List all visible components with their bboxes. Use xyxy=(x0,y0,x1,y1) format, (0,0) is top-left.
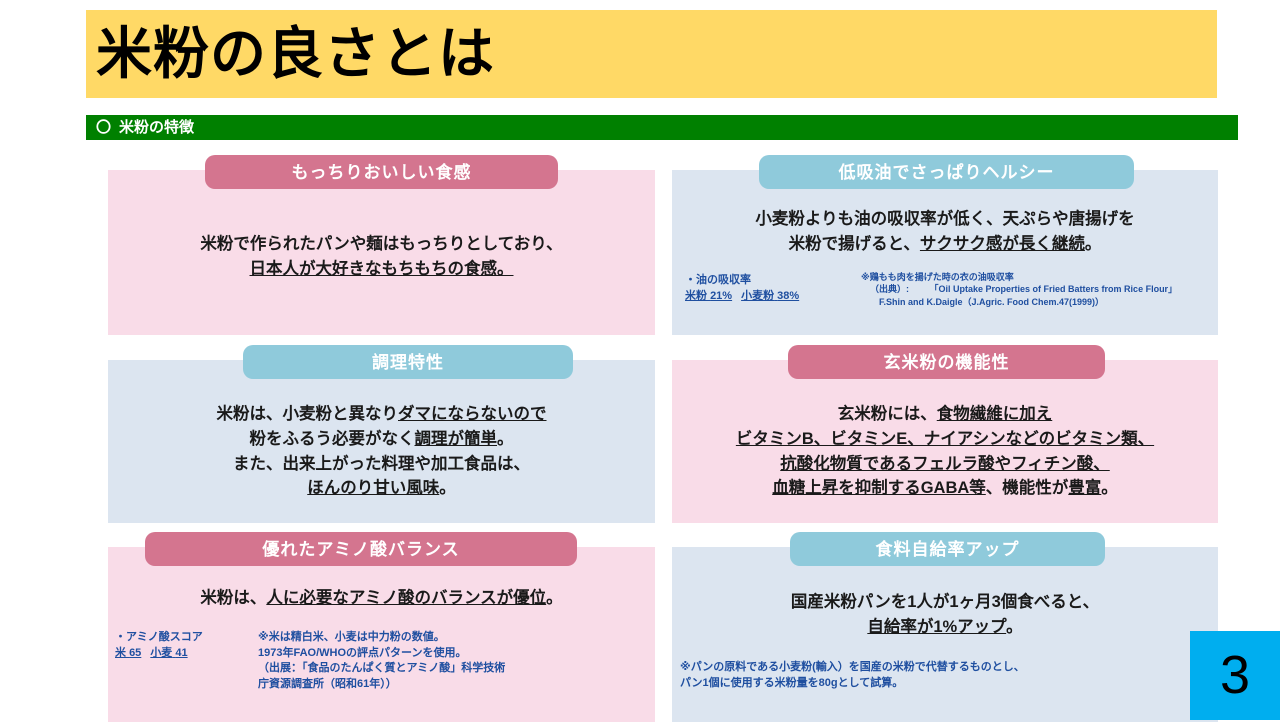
card-genmaiko-kinousei-body-line-1: 玄米粉には、食物繊維に加え xyxy=(672,402,1218,427)
card-mochiri: もっちりおいしい食感 米粉で作られたパンや麺はもっちりとしており、 日本人が大好… xyxy=(108,170,655,335)
card-mochiri-body: 米粉で作られたパンや麺はもっちりとしており、 日本人が大好きなもちもちの食感。 xyxy=(108,232,655,282)
section-header-label: 米粉の特徴 xyxy=(119,120,194,135)
card-tei-kyuyu-note-left: ・油の吸収率 米粉 21%小麦粉 38% xyxy=(685,273,799,304)
card-amino-balance-body-line-1: 米粉は、人に必要なアミノ酸のバランスが優位。 xyxy=(108,586,655,611)
card-genmaiko-kinousei-body-line-4: 血糖上昇を抑制するGABA等、機能性が豊富。 xyxy=(672,476,1218,501)
card-tei-kyuyu-score-1-value: 21% xyxy=(710,290,732,302)
card-amino-balance-source-line-4: 庁資源調査所（昭和61年）） xyxy=(258,677,505,693)
card-tei-kyuyu-body-line-1: 小麦粉よりも油の吸収率が低く、天ぷらや唐揚げを xyxy=(672,207,1218,232)
card-chori-tokusei-body-line-2: 粉をふるう必要がなく調理が簡単。 xyxy=(108,427,655,452)
card-tei-kyuyu-source-line-1: ※鶏もも肉を揚げた時の衣の油吸収率 xyxy=(861,271,1218,283)
card-tei-kyuyu-score-row: 米粉 21%小麦粉 38% xyxy=(685,289,799,305)
card-amino-balance-note-left-title: ・アミノ酸スコア xyxy=(115,630,203,646)
card-amino-balance-heading: 優れたアミノ酸バランス xyxy=(262,541,459,558)
title-band: 米粉の良さとは xyxy=(86,10,1217,98)
card-tei-kyuyu-source-line-4: F.Shin and K.Daigle（J.Agric. Food Chem.4… xyxy=(861,296,1104,308)
card-jikyuritsu-up-note-line-2: パン1個に使用する米粉量を80gとして試算。 xyxy=(680,676,1025,692)
card-genmaiko-kinousei-body-line-2: ビタミンB、ビタミンE、ナイアシンなどのビタミン類、 xyxy=(672,427,1218,452)
card-jikyuritsu-up-body: 国産米粉パンを1人が1ヶ月3個食べると、 自給率が1%アップ。 xyxy=(672,590,1218,640)
card-tei-kyuyu: 低吸油でさっぱりヘルシー 小麦粉よりも油の吸収率が低く、天ぷらや唐揚げを 米粉で… xyxy=(672,170,1218,335)
card-chori-tokusei-heading: 調理特性 xyxy=(372,354,444,371)
card-amino-balance-heading-pill: 優れたアミノ酸バランス xyxy=(145,532,577,566)
card-chori-tokusei: 調理特性 米粉は、小麦粉と異なりダマにならないので 粉をふるう必要がなく調理が簡… xyxy=(108,360,655,523)
card-mochiri-heading: もっちりおいしい食感 xyxy=(292,164,472,181)
card-amino-balance-source-line-3: （出展：「食品のたんぱく質とアミノ酸」科学技術 xyxy=(258,661,505,677)
card-chori-tokusei-body-line-4: ほんのり甘い風味。 xyxy=(108,476,655,501)
card-tei-kyuyu-score-1-label: 米粉 xyxy=(685,290,707,302)
card-amino-balance-score-2-value: 41 xyxy=(175,647,187,659)
card-jikyuritsu-up-note-line-1: ※パンの原料である小麦粉(輸入）を国産の米粉で代替するものとし、 xyxy=(680,660,1025,676)
card-tei-kyuyu-heading: 低吸油でさっぱりヘルシー xyxy=(839,164,1055,181)
card-mochiri-heading-pill: もっちりおいしい食感 xyxy=(205,155,558,189)
card-amino-balance-body: 米粉は、人に必要なアミノ酸のバランスが優位。 xyxy=(108,586,655,611)
card-amino-balance-score-2-label: 小麦 xyxy=(150,647,172,659)
card-jikyuritsu-up: 食料自給率アップ 国産米粉パンを1人が1ヶ月3個食べると、 自給率が1%アップ。… xyxy=(672,547,1218,722)
card-amino-balance-score-1-label: 米 xyxy=(115,647,126,659)
card-amino-balance-note-right: ※米は精白米、小麦は中力粉の数値。 1973年FAO/WHOの評点パターンを使用… xyxy=(258,630,505,692)
card-jikyuritsu-up-body-line-1: 国産米粉パンを1人が1ヶ月3個食べると、 xyxy=(672,590,1218,615)
card-jikyuritsu-up-body-underline: 自給率が1%アップ xyxy=(867,618,1006,636)
card-jikyuritsu-up-heading-pill: 食料自給率アップ xyxy=(790,532,1105,566)
card-chori-tokusei-body: 米粉は、小麦粉と異なりダマにならないので 粉をふるう必要がなく調理が簡単。 また… xyxy=(108,402,655,501)
card-genmaiko-kinousei-body: 玄米粉には、食物繊維に加え ビタミンB、ビタミンE、ナイアシンなどのビタミン類、… xyxy=(672,402,1218,501)
card-genmaiko-kinousei: 玄米粉の機能性 玄米粉には、食物繊維に加え ビタミンB、ビタミンE、ナイアシンな… xyxy=(672,360,1218,523)
circle-outline-icon: 〇 xyxy=(96,120,111,135)
card-chori-tokusei-heading-pill: 調理特性 xyxy=(243,345,573,379)
card-amino-balance-note-left: ・アミノ酸スコア 米 65小麦 41 xyxy=(115,630,203,661)
card-jikyuritsu-up-heading: 食料自給率アップ xyxy=(876,541,1020,558)
card-amino-balance: 優れたアミノ酸バランス 米粉は、人に必要なアミノ酸のバランスが優位。 ・アミノ酸… xyxy=(108,547,655,722)
card-genmaiko-kinousei-heading: 玄米粉の機能性 xyxy=(884,354,1010,371)
card-genmaiko-kinousei-heading-pill: 玄米粉の機能性 xyxy=(788,345,1105,379)
card-chori-tokusei-body-line-1: 米粉は、小麦粉と異なりダマにならないので xyxy=(108,402,655,427)
page-number-badge: 3 xyxy=(1190,631,1280,720)
card-chori-tokusei-body-line-3: また、出来上がった料理や加工食品は、 xyxy=(108,452,655,477)
card-amino-balance-source-line-1: ※米は精白米、小麦は中力粉の数値。 xyxy=(258,630,505,646)
card-tei-kyuyu-note-right: ※鶏もも肉を揚げた時の衣の油吸収率 （出典）: 「Oil Uptake Prop… xyxy=(861,271,1218,308)
card-amino-balance-score-1-value: 65 xyxy=(129,647,141,659)
page-title: 米粉の良さとは xyxy=(96,26,495,82)
card-tei-kyuyu-source-line-3: 「Oil Uptake Properties of Fried Batters … xyxy=(912,283,1178,295)
card-amino-balance-body-underline: 人に必要なアミノ酸のバランスが優位 xyxy=(266,589,546,607)
card-tei-kyuyu-score-2-label: 小麦粉 xyxy=(741,290,774,302)
card-mochiri-body-line-1: 米粉で作られたパンや麺はもっちりとしており、 xyxy=(108,232,655,257)
card-tei-kyuyu-body: 小麦粉よりも油の吸収率が低く、天ぷらや唐揚げを 米粉で揚げると、サクサク感が長く… xyxy=(672,207,1218,257)
card-tei-kyuyu-body-underline: サクサク感が長く継続 xyxy=(920,235,1085,253)
card-jikyuritsu-up-body-line-2: 自給率が1%アップ。 xyxy=(672,615,1218,640)
card-tei-kyuyu-body-line-2: 米粉で揚げると、サクサク感が長く継続。 xyxy=(672,232,1218,257)
card-amino-balance-score-row: 米 65小麦 41 xyxy=(115,646,203,662)
card-tei-kyuyu-score-2-value: 38% xyxy=(777,290,799,302)
card-amino-balance-source-line-2: 1973年FAO/WHOの評点パターンを使用。 xyxy=(258,646,505,662)
card-genmaiko-kinousei-body-line-3: 抗酸化物質であるフェルラ酸やフィチン酸、 xyxy=(672,452,1218,477)
page-number: 3 xyxy=(1190,647,1280,701)
section-header-bar: 〇 米粉の特徴 xyxy=(86,115,1238,140)
card-mochiri-body-line-2: 日本人が大好きなもちもちの食感。 xyxy=(108,257,655,282)
card-jikyuritsu-up-note: ※パンの原料である小麦粉(輸入）を国産の米粉で代替するものとし、 パン1個に使用… xyxy=(680,660,1025,691)
card-tei-kyuyu-heading-pill: 低吸油でさっぱりヘルシー xyxy=(759,155,1134,189)
card-tei-kyuyu-note-left-title: ・油の吸収率 xyxy=(685,273,799,289)
card-tei-kyuyu-source-line-2: （出典）: xyxy=(861,283,909,295)
